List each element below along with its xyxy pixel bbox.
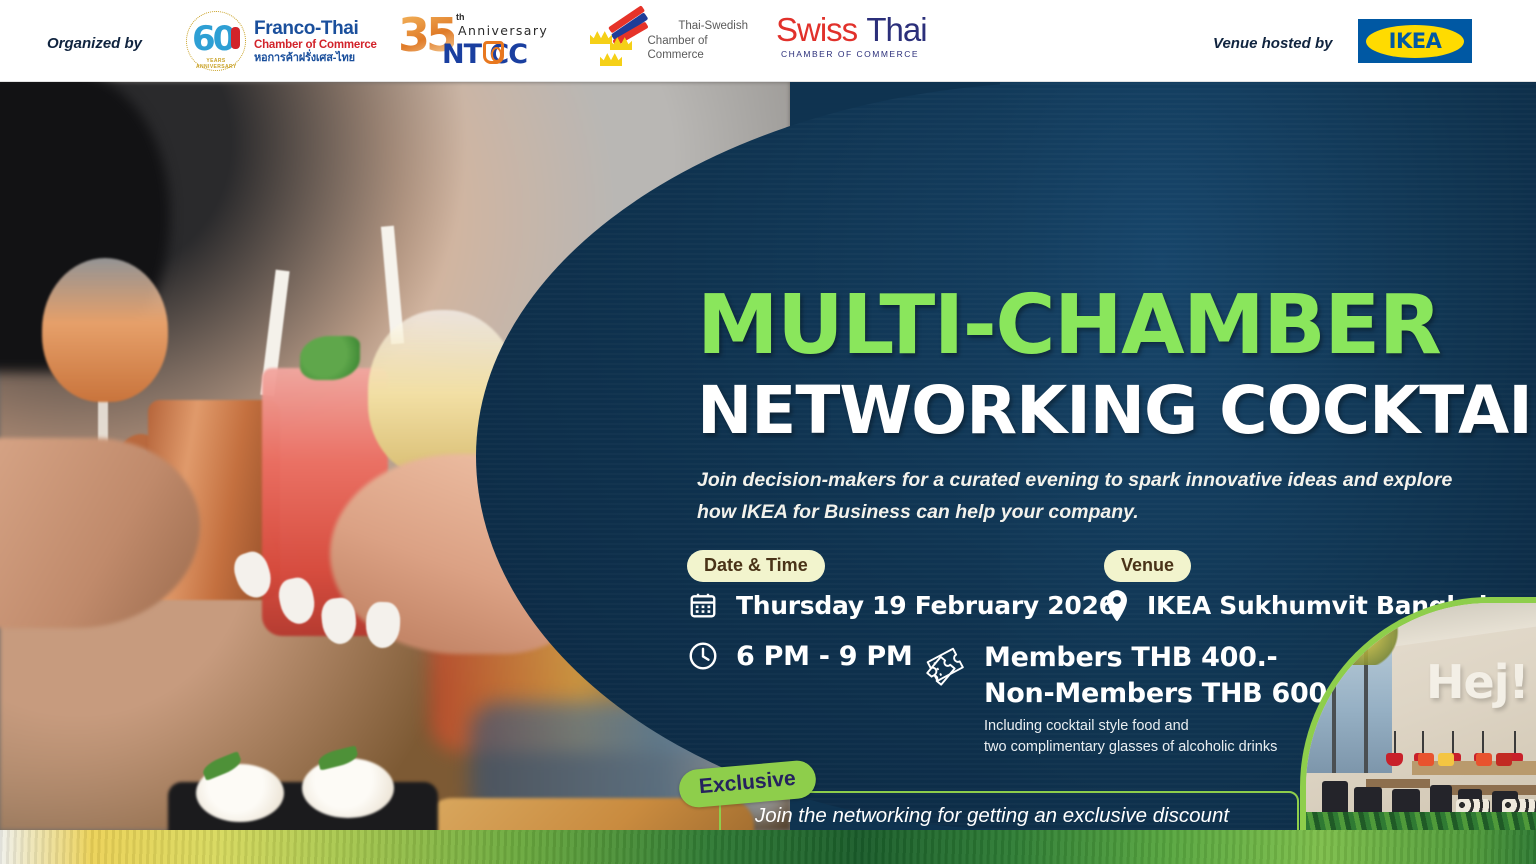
crown-icon	[600, 51, 622, 66]
swiss-thai-word-swiss: Swiss	[776, 11, 857, 48]
ntcc-orange-emblem	[483, 41, 504, 64]
price-note-line-1: Including cocktail style food and	[984, 716, 1348, 737]
price-block: Members THB 400.- Non-Members THB 600.- …	[924, 640, 1348, 757]
thai-swedish-subtitle: Chamber of Commerce	[648, 34, 749, 64]
price-note-line-2: two complimentary glasses of alcoholic d…	[984, 737, 1348, 758]
franco-thai-name: Franco-Thai	[254, 18, 377, 39]
venue-cushion	[1496, 753, 1512, 766]
ticket-icon	[924, 644, 970, 688]
price-notes: Including cocktail style food and two co…	[984, 716, 1348, 757]
venue-cushion	[1438, 753, 1454, 766]
franco-thai-accent	[231, 27, 240, 49]
ntcc-ordinal: th	[456, 12, 465, 22]
crown-icon	[590, 29, 612, 44]
pendant-cord	[1482, 731, 1484, 753]
pendant-cord	[1394, 731, 1396, 753]
venue-badge: Venue	[1104, 550, 1191, 582]
franco-thai-anniversary-number: 60	[192, 22, 233, 56]
venue-cushion	[1476, 753, 1492, 766]
price-non-members: Non-Members THB 600.-	[984, 676, 1348, 712]
venue-cushion	[1418, 753, 1434, 766]
swiss-thai-wordmark: Swiss Thai	[776, 13, 931, 46]
sponsor-header-bar: Organized by 60 YEARS ANNIVERSARY Franco…	[0, 0, 1536, 82]
pendant-lamp	[1386, 753, 1403, 766]
date-time-badge: Date & Time	[687, 550, 825, 582]
ntcc-anniversary-word: Anniversary	[458, 23, 548, 38]
venue-greenery	[1306, 812, 1536, 830]
organized-by-label: Organized by	[47, 35, 142, 52]
swiss-thai-mark: Swiss Thai CHAMBER OF COMMERCE	[776, 13, 931, 69]
tagline-text: Join decision-makers for a curated eveni…	[697, 464, 1487, 528]
logo-franco-thai: 60 YEARS ANNIVERSARY Franco-Thai Chamber…	[184, 0, 377, 82]
franco-thai-subtitle: Chamber of Commerce	[254, 39, 377, 52]
event-time: 6 PM - 9 PM	[736, 641, 912, 672]
date-row: Thursday 19 February 2026	[686, 588, 1116, 622]
venue-indoor-tree	[1334, 609, 1400, 665]
venue-hosted-by-label: Venue hosted by	[1213, 35, 1332, 52]
logo-ikea: IKEA	[1358, 0, 1472, 82]
pendant-cord	[1452, 731, 1454, 753]
logo-ntcc: 35 th Anniversary NT CC	[398, 0, 544, 82]
clock-icon	[686, 639, 720, 673]
page-title: MULTI-CHAMBER	[697, 285, 1440, 367]
thai-swedish-mark: Thai-Swedish Chamber of Commerce	[588, 10, 748, 72]
exclusive-line-1: Join the networking for getting an exclu…	[755, 801, 1297, 830]
thai-swedish-crowns	[588, 13, 644, 69]
franco-thai-mark: 60 YEARS ANNIVERSARY	[184, 9, 248, 73]
thai-swedish-wordmark: Thai-Swedish Chamber of Commerce	[648, 19, 749, 64]
price-lines: Members THB 400.- Non-Members THB 600.- …	[984, 640, 1348, 757]
logo-thai-swedish: Thai-Swedish Chamber of Commerce	[588, 0, 748, 82]
ikea-logo-oval: IKEA	[1366, 25, 1464, 58]
page-subtitle: NETWORKING COCKTAIL	[697, 378, 1536, 444]
swiss-thai-subtitle: CHAMBER OF COMMERCE	[776, 49, 924, 59]
franco-thai-years-text: YEARS ANNIVERSARY	[196, 58, 236, 71]
venue-chair	[1322, 781, 1348, 815]
pendant-cord	[1422, 731, 1424, 753]
logo-swiss-thai: Swiss Thai CHAMBER OF COMMERCE	[776, 0, 931, 82]
franco-thai-thai-subtitle: หอการค้าฝรั่งเศส-ไทย	[254, 52, 377, 64]
time-row: 6 PM - 9 PM	[686, 639, 912, 673]
location-pin-icon	[1103, 588, 1131, 622]
bottom-decorative-strip	[0, 830, 1536, 864]
ikea-logo-box: IKEA	[1358, 19, 1472, 63]
event-date: Thursday 19 February 2026	[736, 591, 1116, 620]
event-poster: MULTI-CHAMBER NETWORKING COCKTAIL Join d…	[0, 0, 1536, 864]
venue-interior-photo: Hej!	[1300, 597, 1536, 830]
pendant-cord	[1514, 731, 1516, 753]
franco-thai-wordmark: Franco-Thai Chamber of Commerce หอการค้า…	[254, 18, 377, 64]
price-members: Members THB 400.-	[984, 640, 1348, 676]
hej-wall-sign: Hej!	[1426, 655, 1528, 709]
ikea-wordmark: IKEA	[1389, 29, 1442, 53]
ntcc-mark: 35 th Anniversary NT CC	[398, 10, 544, 72]
calendar-icon	[686, 588, 720, 622]
thai-swedish-name: Thai-Swedish	[648, 19, 749, 34]
swiss-thai-word-thai: Thai	[866, 11, 926, 48]
